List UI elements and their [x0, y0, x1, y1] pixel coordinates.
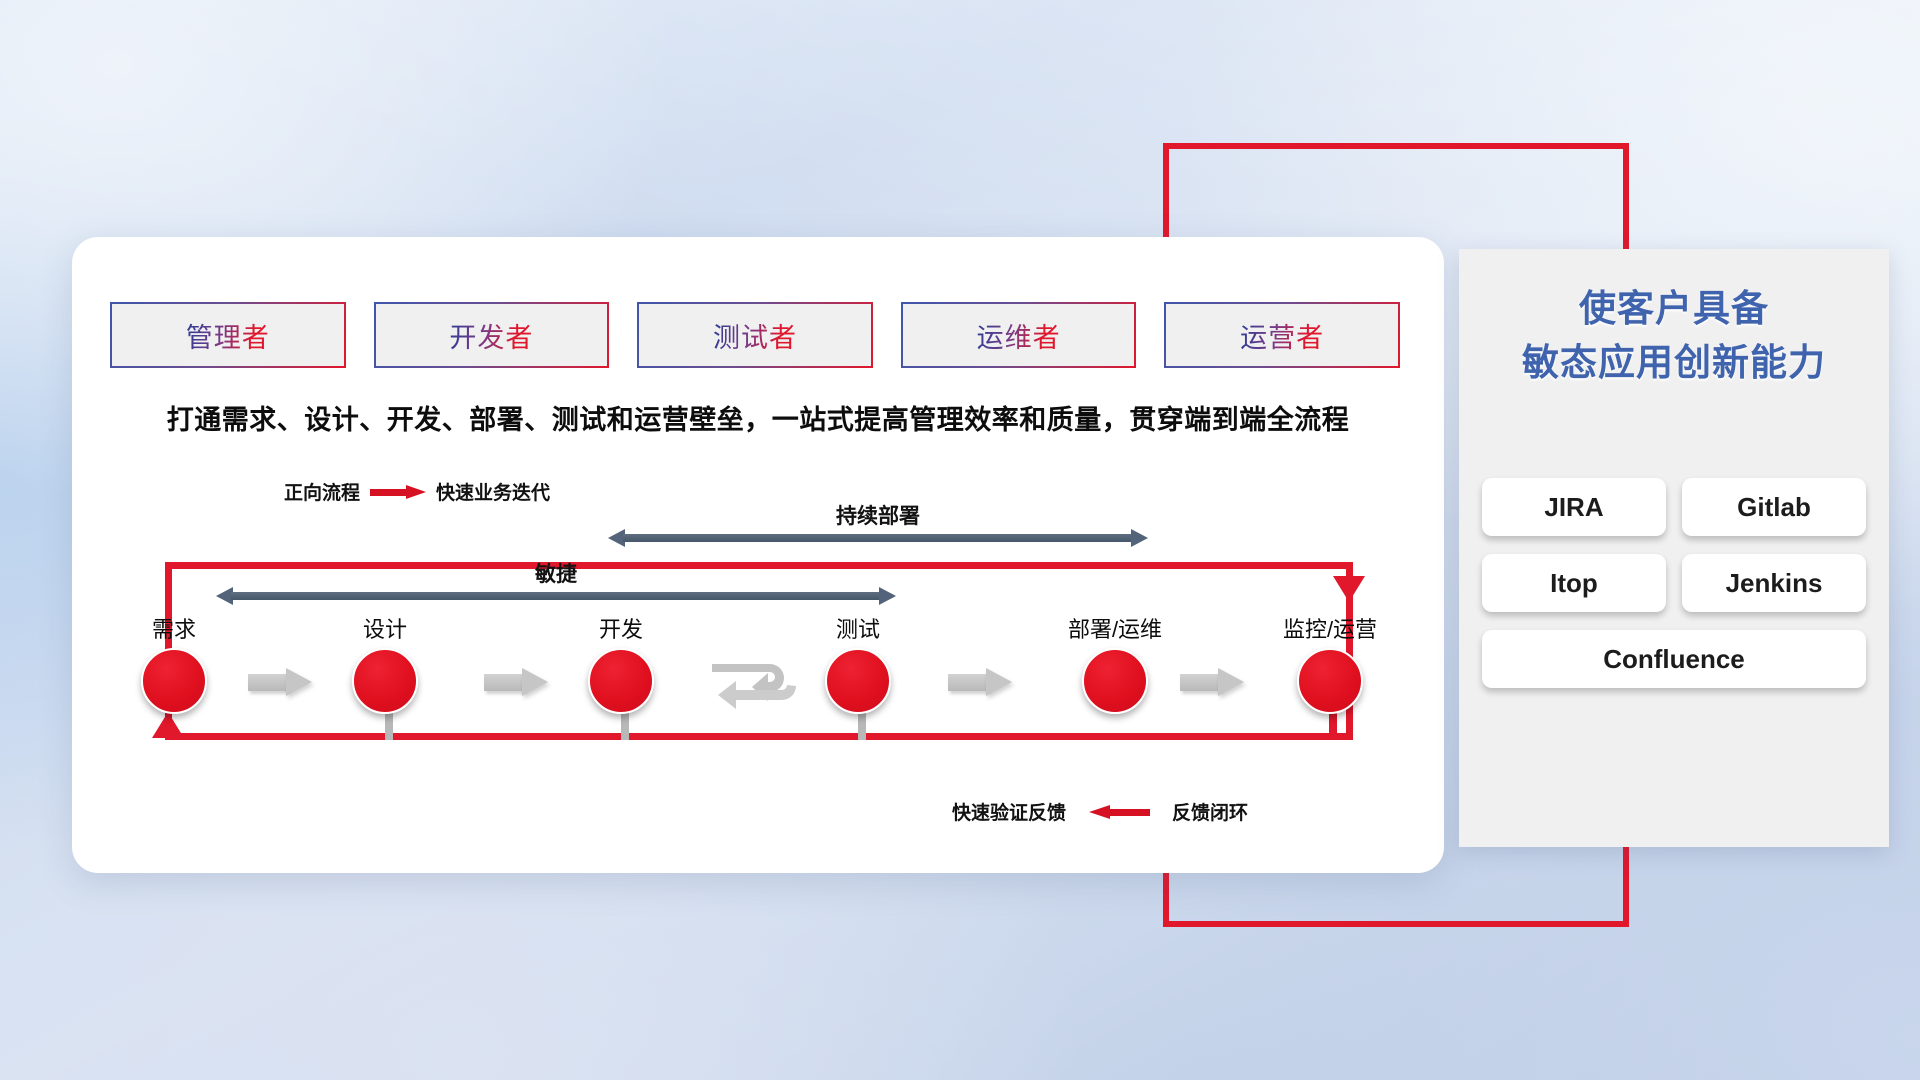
- tool-chip-itop[interactable]: Itop: [1482, 554, 1666, 612]
- stage-label: 部署/运维: [1055, 612, 1175, 644]
- pipeline-stage-testing[interactable]: 测试: [798, 612, 918, 714]
- role-chip-manager[interactable]: 管理者: [110, 302, 346, 368]
- headline-text: 打通需求、设计、开发、部署、测试和运营壁垒，一站式提高管理效率和质量，贯穿端到端…: [72, 398, 1444, 437]
- tool-chip-jenkins[interactable]: Jenkins: [1682, 554, 1866, 612]
- pipeline-stage-design[interactable]: 设计: [325, 612, 445, 714]
- pipeline-stage-requirements[interactable]: 需求: [114, 612, 234, 714]
- stage-label: 监控/运营: [1270, 612, 1390, 644]
- pipeline-stage-development[interactable]: 开发: [561, 612, 681, 714]
- role-chip-label: 运维者: [977, 316, 1061, 355]
- loop-arrowhead-down-icon: [1333, 576, 1365, 602]
- span-label-continuous-deployment: 持续部署: [608, 500, 1148, 530]
- tool-chip-group: JIRA Gitlab Itop Jenkins Confluence: [1461, 478, 1887, 688]
- tool-chip-confluence[interactable]: Confluence: [1482, 630, 1866, 688]
- tool-chip-gitlab[interactable]: Gitlab: [1682, 478, 1866, 536]
- tool-chip-label: Jenkins: [1726, 568, 1823, 599]
- role-chip-row: 管理者 开发者 测试者 运维者 运营者: [110, 302, 1400, 368]
- flow-arrow-1-icon: [248, 668, 312, 696]
- role-chip-tester[interactable]: 测试者: [637, 302, 873, 368]
- stage-dot-icon: [141, 648, 207, 714]
- feedback-legend: 快速验证反馈 反馈闭环: [952, 798, 1248, 825]
- flow-arrow-3-icon: [948, 668, 1012, 696]
- forward-flow-left-label: 正向流程: [284, 478, 360, 505]
- stage-dot-icon: [1297, 648, 1363, 714]
- tool-chip-label: Confluence: [1603, 644, 1745, 675]
- arrow-left-red-icon: [1088, 805, 1150, 819]
- pipeline-stage-deploy-ops[interactable]: 部署/运维: [1055, 612, 1175, 714]
- flow-arrow-4-icon: [1180, 668, 1244, 696]
- forward-flow-right-label: 快速业务迭代: [436, 478, 550, 505]
- role-chip-ops[interactable]: 运维者: [901, 302, 1137, 368]
- loop-line-bottom: [165, 733, 1353, 740]
- role-chip-label: 运营者: [1240, 316, 1324, 355]
- flow-arrow-2-icon: [484, 668, 548, 696]
- stage-dot-icon: [352, 648, 418, 714]
- stage-dot-icon: [825, 648, 891, 714]
- tool-chip-label: Itop: [1550, 568, 1598, 599]
- double-arrow-continuous-deployment-icon: [608, 529, 1148, 547]
- role-chip-label: 开发者: [449, 316, 533, 355]
- feedback-left-label: 快速验证反馈: [952, 798, 1066, 825]
- role-chip-label: 管理者: [186, 316, 270, 355]
- value-panel-title: 使客户具备 敏态应用创新能力: [1459, 282, 1889, 390]
- stage-label: 测试: [798, 612, 918, 644]
- value-panel-title-line2: 敏态应用创新能力: [1459, 336, 1889, 390]
- value-panel-title-line1: 使客户具备: [1459, 282, 1889, 336]
- stage-label: 开发: [561, 612, 681, 644]
- iteration-loop-arrow-icon: [710, 656, 802, 714]
- stage-dot-icon: [1082, 648, 1148, 714]
- tool-chip-jira[interactable]: JIRA: [1482, 478, 1666, 536]
- span-label-agile: 敏捷: [216, 558, 896, 588]
- arrow-right-red-icon: [370, 485, 426, 499]
- feedback-right-label: 反馈闭环: [1172, 798, 1248, 825]
- stage-dot-icon: [588, 648, 654, 714]
- double-arrow-agile-icon: [216, 587, 896, 605]
- tool-chip-label: Gitlab: [1737, 492, 1811, 523]
- forward-flow-legend: 正向流程 快速业务迭代: [284, 478, 550, 505]
- stage-label: 需求: [114, 612, 234, 644]
- stage-label: 设计: [325, 612, 445, 644]
- pipeline-stage-monitor-operations[interactable]: 监控/运营: [1270, 612, 1390, 714]
- role-chip-operations[interactable]: 运营者: [1164, 302, 1400, 368]
- role-chip-label: 测试者: [713, 316, 797, 355]
- role-chip-developer[interactable]: 开发者: [374, 302, 610, 368]
- tool-chip-label: JIRA: [1544, 492, 1603, 523]
